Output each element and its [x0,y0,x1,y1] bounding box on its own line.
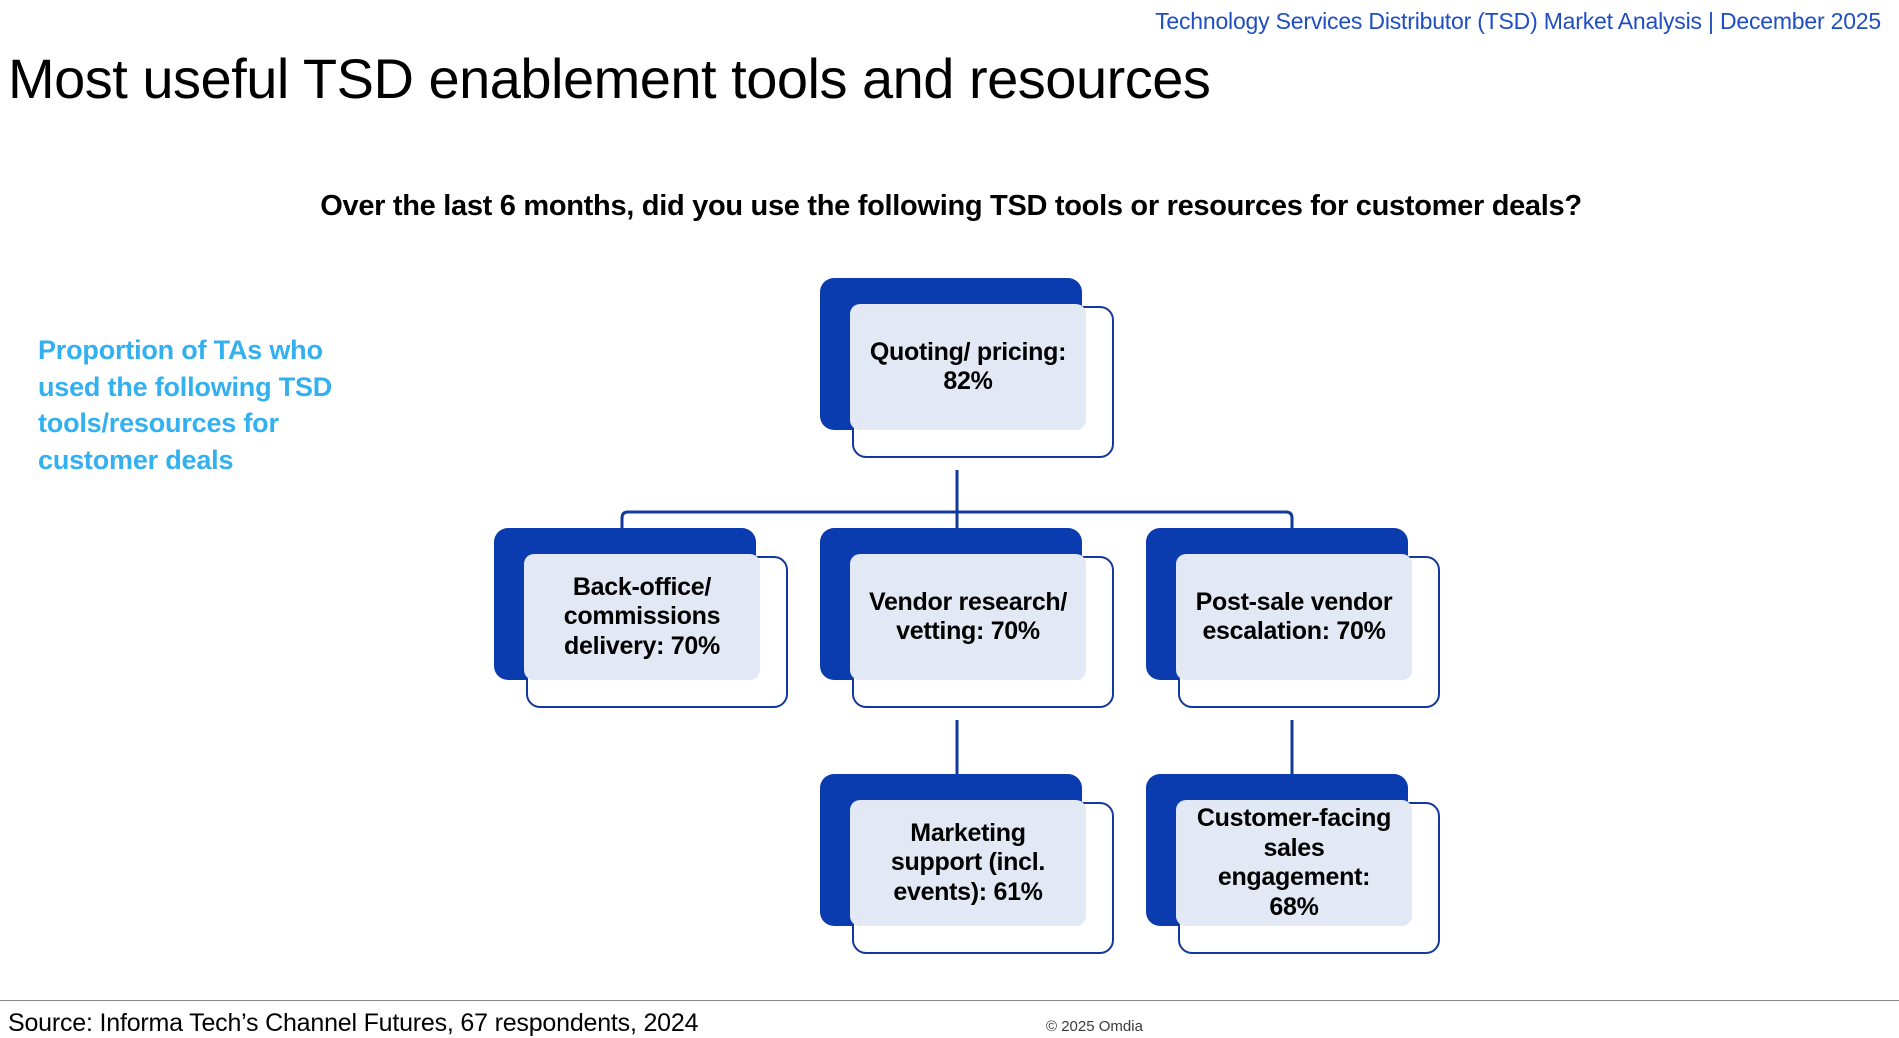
node-label-text: Marketing support (incl. events): 61% [891,819,1045,908]
node-label-text: Back-office/ commissions delivery: 70% [564,573,720,662]
node-label-text: Customer-facing sales engagement: 68% [1197,804,1391,922]
survey-question-text: Over the last 6 months, did you use the … [236,190,1666,223]
report-eyebrow-label: Technology Services Distributor (TSD) Ma… [1155,8,1881,35]
node-label-box: Vendor research/ vetting: 70% [850,554,1086,680]
page-title: Most useful TSD enablement tools and res… [8,48,1210,110]
node-label-text: Vendor research/ vetting: 70% [869,588,1067,647]
footer-copyright-text: © 2025 Omdia [1046,1018,1143,1035]
node-label-box: Quoting/ pricing: 82% [850,304,1086,430]
footer-divider [0,1000,1899,1001]
node-label-box: Customer-facing sales engagement: 68% [1176,800,1412,926]
node-label-box: Marketing support (incl. events): 61% [850,800,1086,926]
node-label-box: Back-office/ commissions delivery: 70% [524,554,760,680]
node-label-box: Post-sale vendor escalation: 70% [1176,554,1412,680]
chart-axis-caption: Proportion of TAs who used the following… [38,332,358,479]
footer-source-text: Source: Informa Tech’s Channel Futures, … [8,1009,698,1038]
node-label-text: Post-sale vendor escalation: 70% [1196,588,1393,647]
node-label-text: Quoting/ pricing: 82% [870,338,1066,397]
